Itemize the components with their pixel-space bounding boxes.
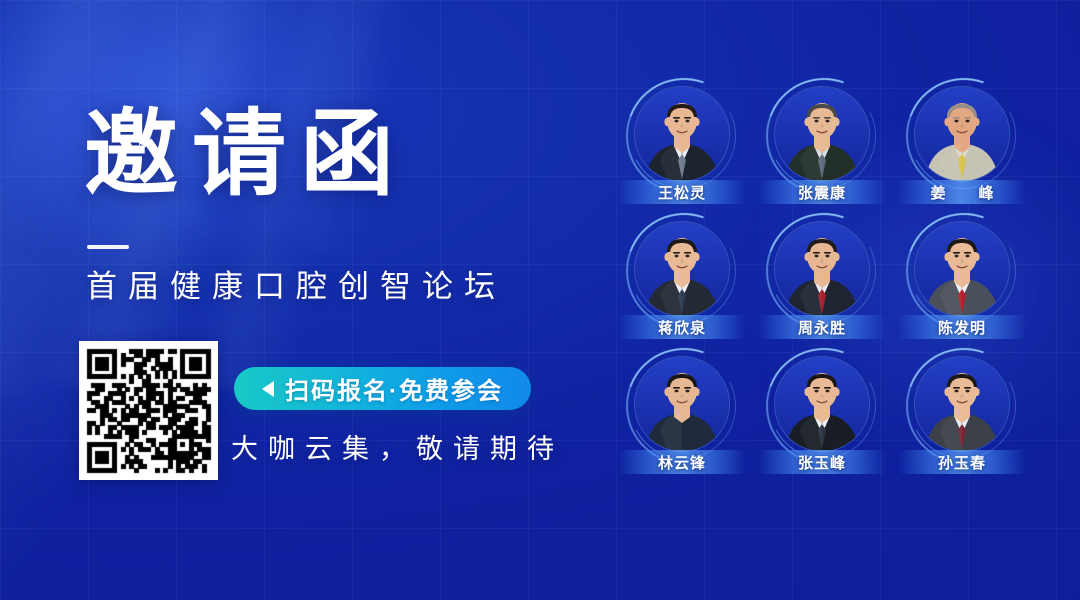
- speaker-nameplate: 张震康: [758, 180, 886, 204]
- speaker-nameplate: 蒋欣泉: [618, 315, 746, 339]
- speaker-nameplate: 林云锋: [618, 450, 746, 474]
- speaker-nameplate: 王松灵: [618, 180, 746, 204]
- speaker-card[interactable]: 张玉峰: [752, 354, 892, 489]
- title-divider: [87, 245, 129, 249]
- speaker-card[interactable]: 陈发明: [892, 219, 1032, 354]
- event-subtitle: 首届健康口腔创智论坛: [86, 268, 506, 306]
- speaker-name: 周永胜: [798, 317, 846, 338]
- page-title: 邀请函: [84, 104, 408, 204]
- speaker-card[interactable]: 孙玉春: [892, 354, 1032, 489]
- speaker-card[interactable]: 蒋欣泉: [612, 219, 752, 354]
- triangle-left-icon: [262, 381, 274, 397]
- speaker-nameplate: 孙玉春: [898, 450, 1026, 474]
- speaker-card[interactable]: 林云锋: [612, 354, 752, 489]
- speaker-card[interactable]: 张震康: [752, 84, 892, 219]
- speaker-name: 陈发明: [938, 317, 986, 338]
- speaker-name: 林云锋: [658, 452, 706, 473]
- invitation-poster: 邀请函 首届健康口腔创智论坛 扫码报名·免费参会 大咖云集，敬请期待: [0, 0, 1080, 600]
- left-content-column: 邀请函 首届健康口腔创智论坛 扫码报名·免费参会 大咖云集，敬请期待: [0, 0, 600, 600]
- qr-code-canvas: [79, 341, 218, 480]
- speaker-name: 王松灵: [658, 182, 706, 203]
- speaker-name: 姜 峰: [921, 182, 1002, 203]
- speaker-grid: 王松灵: [612, 84, 1032, 504]
- speaker-card[interactable]: 姜 峰: [892, 84, 1032, 219]
- event-tagline: 大咖云集，敬请期待: [231, 432, 564, 466]
- scan-register-button[interactable]: 扫码报名·免费参会: [234, 367, 531, 410]
- speaker-name: 孙玉春: [938, 452, 986, 473]
- speaker-card[interactable]: 王松灵: [612, 84, 752, 219]
- scan-register-label: 扫码报名·免费参会: [285, 371, 503, 406]
- speaker-nameplate: 姜 峰: [898, 180, 1026, 204]
- speaker-card[interactable]: 周永胜: [752, 219, 892, 354]
- speaker-name: 张震康: [798, 182, 846, 203]
- qr-code[interactable]: [79, 341, 218, 480]
- speaker-name: 张玉峰: [798, 452, 846, 473]
- speaker-name: 蒋欣泉: [658, 317, 706, 338]
- speaker-nameplate: 陈发明: [898, 315, 1026, 339]
- speaker-nameplate: 张玉峰: [758, 450, 886, 474]
- speaker-nameplate: 周永胜: [758, 315, 886, 339]
